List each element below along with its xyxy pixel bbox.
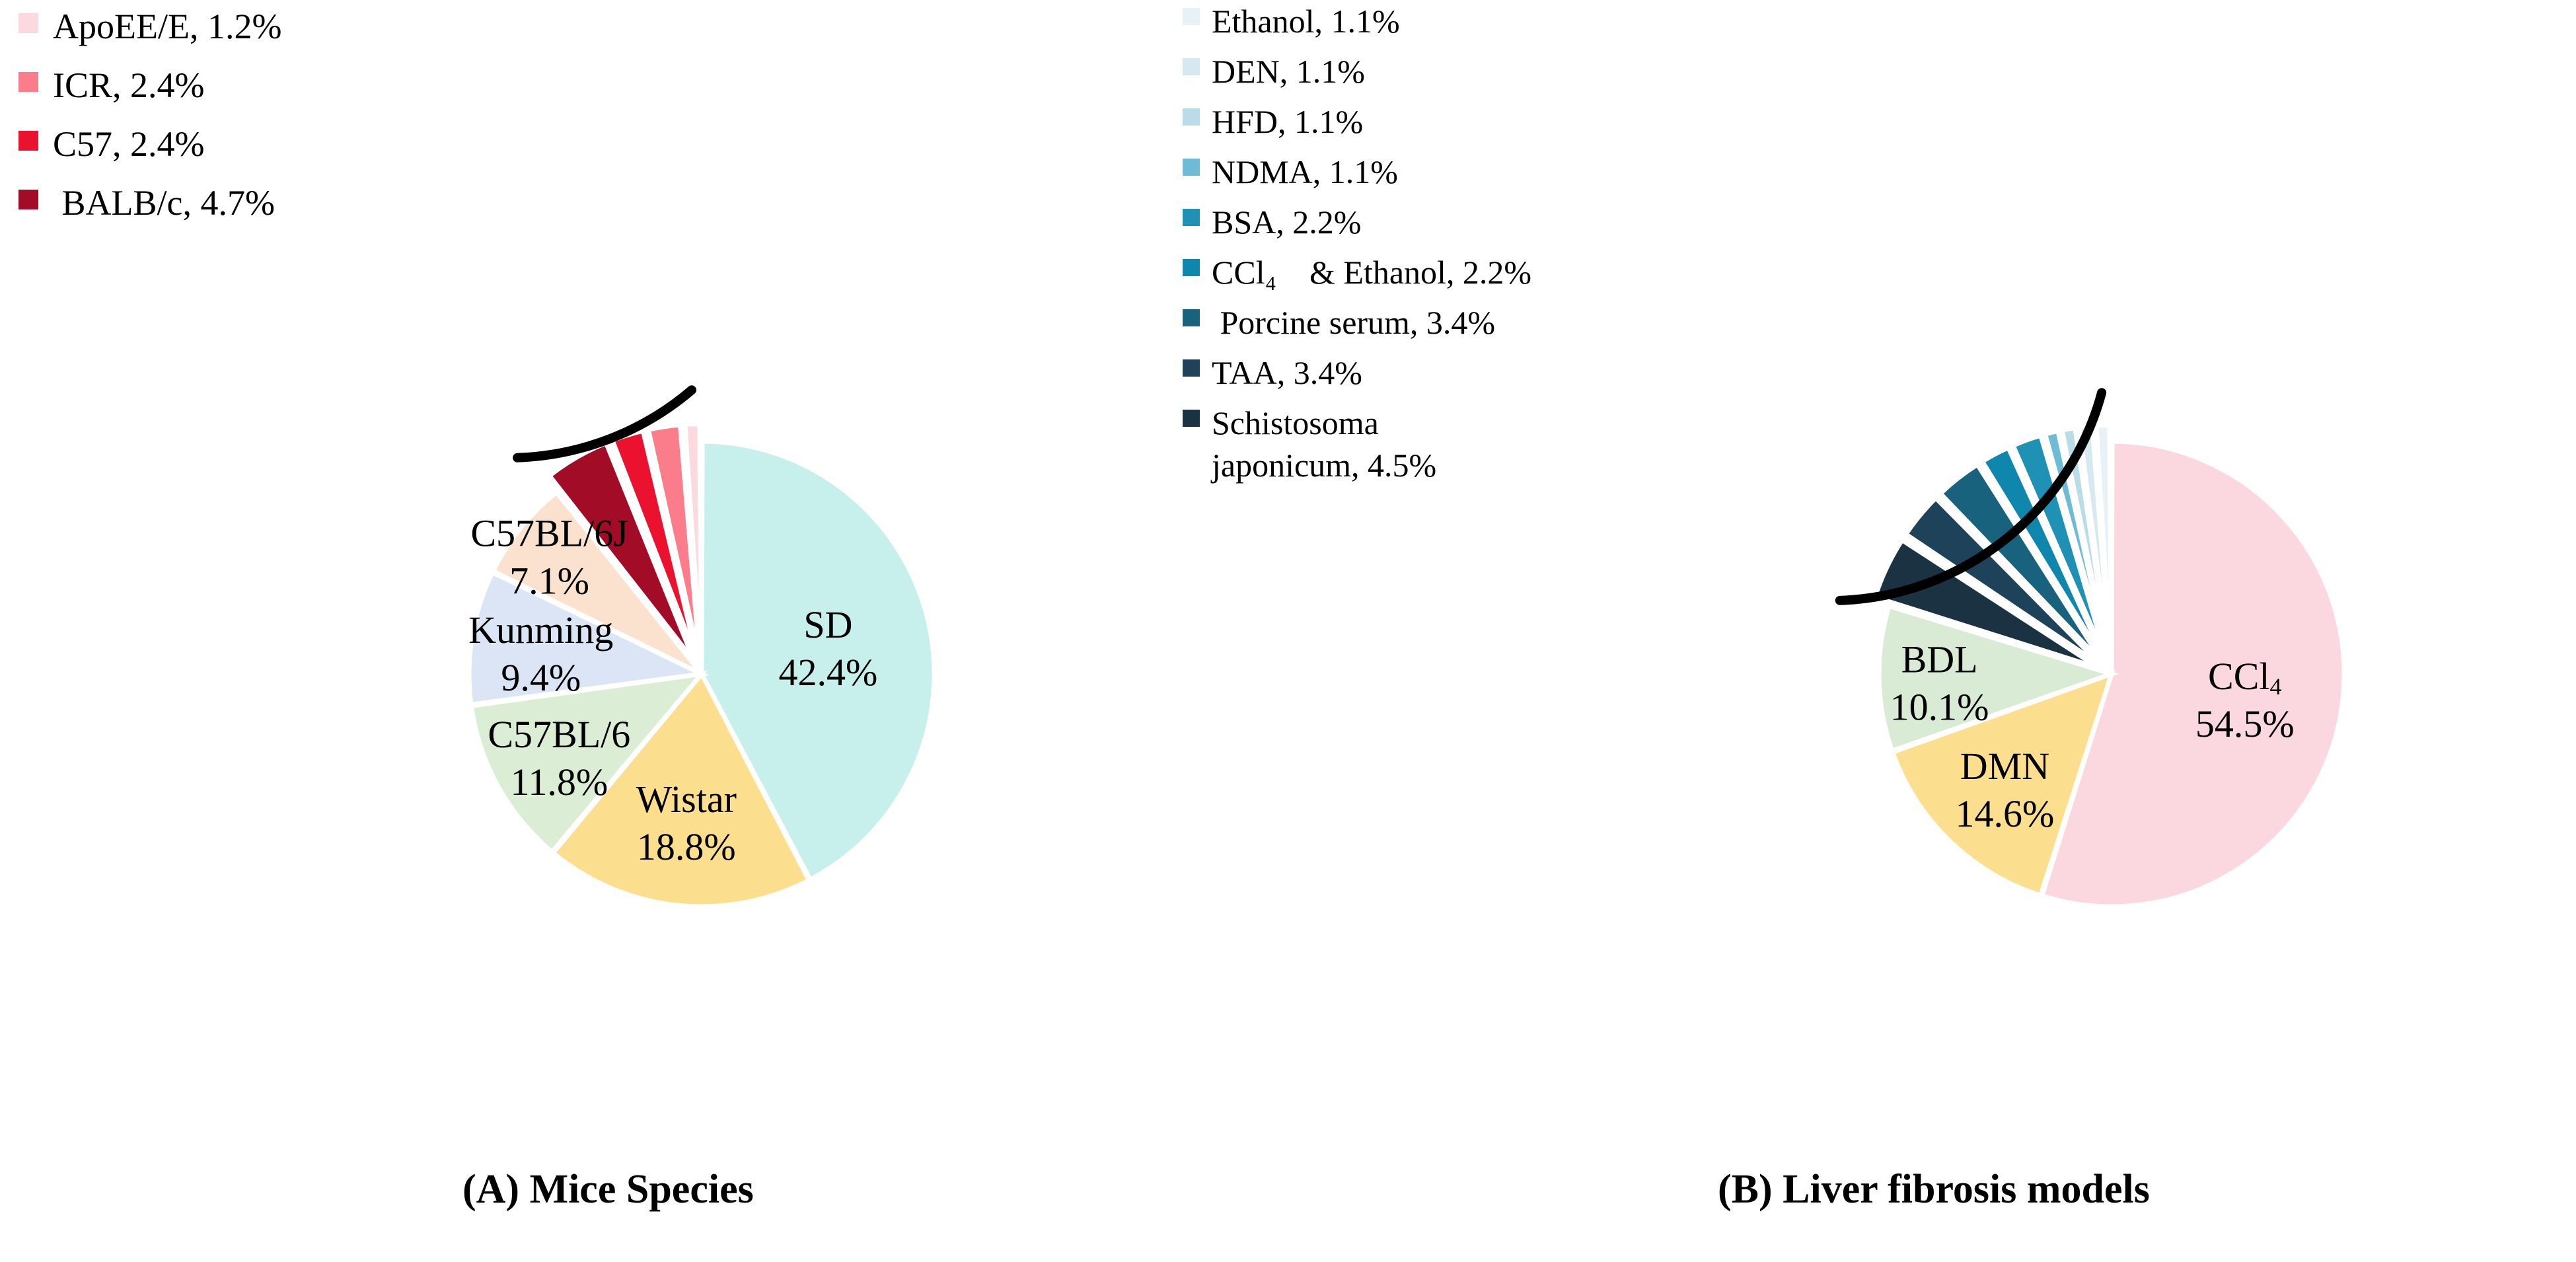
pie-label-name: BDL [1901,638,1978,681]
pie-mice-species: SD42.4%Wistar18.8%C57BL/611.8%Kunming9.4… [468,390,934,907]
pie-label-name: Kunming [468,609,613,651]
pie-label-percent: 11.8% [510,761,608,803]
pie-label-percent: 14.6% [1956,792,2055,835]
pie-label-percent: 10.1% [1890,685,1989,728]
pie-label-percent: 42.4% [778,651,877,694]
pie-label-name: SD [803,603,852,646]
pie-label-percent: 54.5% [2195,702,2295,745]
pie-label-name: C57BL/6J [470,512,628,555]
pie-label-percent: 9.4% [501,656,581,699]
pie-label-name: DMN [1960,745,2049,788]
pie-charts-canvas: SD42.4%Wistar18.8%C57BL/611.8%Kunming9.4… [0,0,2576,1262]
pie-label-percent: 7.1% [509,560,589,603]
pie-label-name: C57BL/6 [488,713,630,756]
pie-liver-fibrosis-models: CCl454.5%DMN14.6%BDL10.1% [1840,392,2344,907]
pie-label-name: Wistar [636,778,737,821]
pie-label-percent: 18.8% [637,825,736,868]
panel-a-caption: (A) Mice Species [462,1166,754,1213]
panel-b-caption: (B) Liver fibrosis models [1718,1166,2150,1213]
